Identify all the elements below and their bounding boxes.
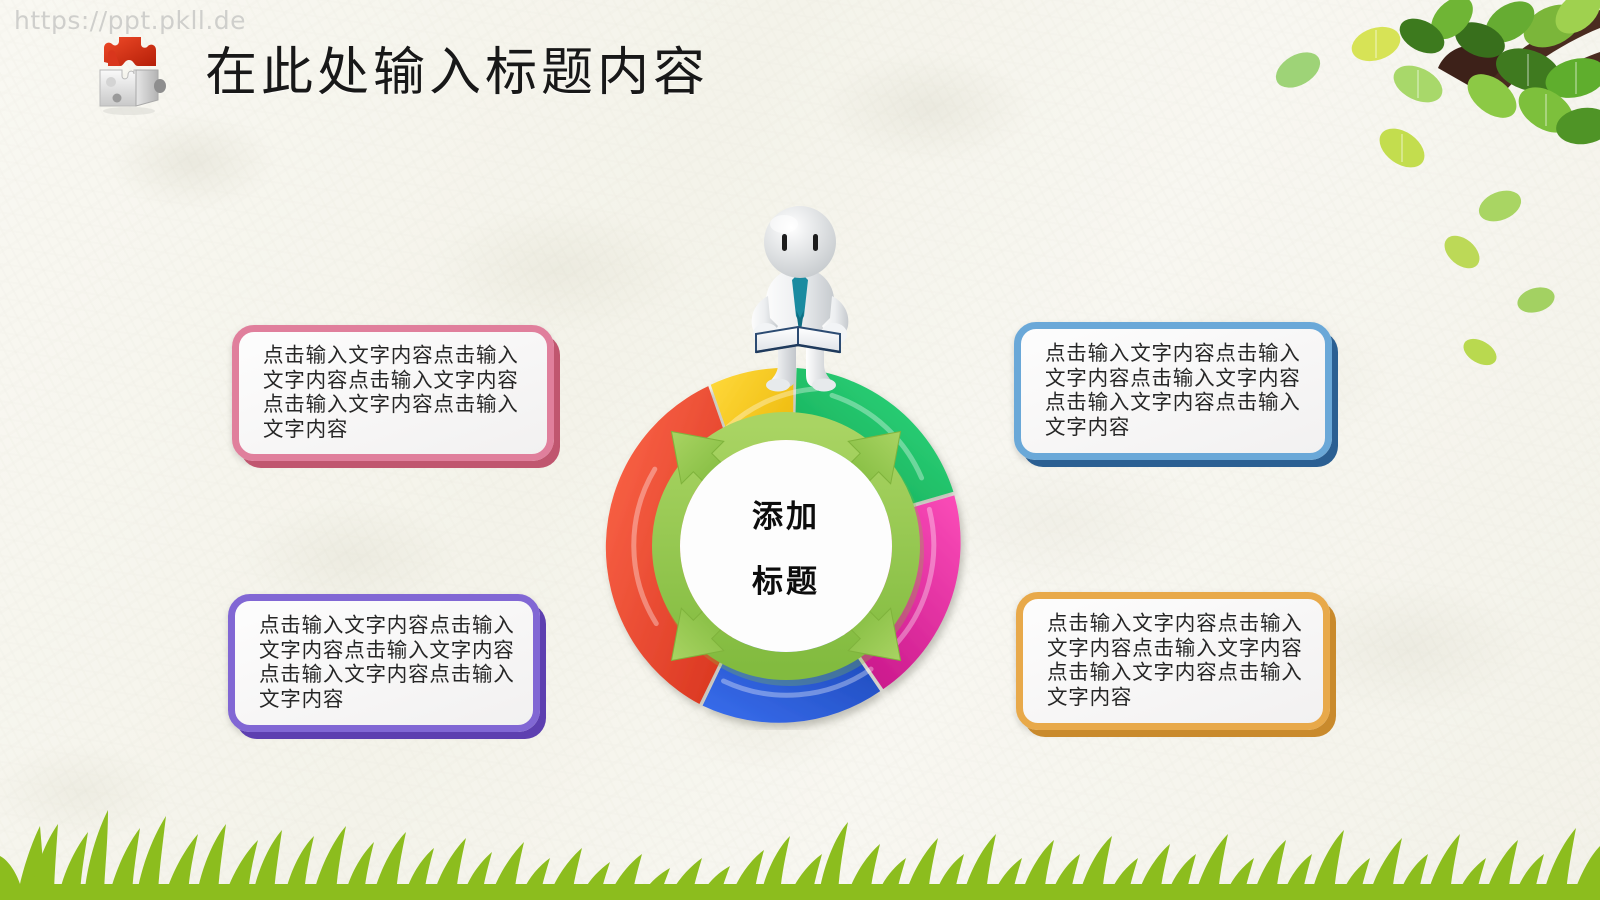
page-title: 在此处输入标题内容 xyxy=(205,40,709,108)
grass-silhouette-icon xyxy=(0,780,1600,900)
presentation-slide: https://ppt.pkll.de xyxy=(0,0,1600,900)
content-box-text: 点击输入文字内容点击输入文字内容点击输入文字内容点击输入文字内容点击输入文字内容 xyxy=(1021,336,1325,446)
content-box-top-right[interactable]: 点击输入文字内容点击输入文字内容点击输入文字内容点击输入文字内容点击输入文字内容 xyxy=(1014,322,1332,460)
center-disc xyxy=(680,440,892,652)
content-box-top-left[interactable]: 点击输入文字内容点击输入文字内容点击输入文字内容点击输入文字内容点击输入文字内容 xyxy=(232,325,554,461)
content-box-bottom-right[interactable]: 点击输入文字内容点击输入文字内容点击输入文字内容点击输入文字内容点击输入文字内容 xyxy=(1016,592,1330,730)
puzzle-piece-icon xyxy=(86,36,172,116)
businessman-reading-book-icon xyxy=(712,206,888,396)
content-box-bottom-left[interactable]: 点击输入文字内容点击输入文字内容点击输入文字内容点击输入文字内容点击输入文字内容 xyxy=(228,594,540,732)
content-box-text: 点击输入文字内容点击输入文字内容点击输入文字内容点击输入文字内容点击输入文字内容 xyxy=(1023,606,1323,716)
content-box-text: 点击输入文字内容点击输入文字内容点击输入文字内容点击输入文字内容点击输入文字内容 xyxy=(239,338,547,448)
cycle-diagram: 添加 标题 xyxy=(602,362,970,730)
watermark-url: https://ppt.pkll.de xyxy=(14,6,246,35)
cycle-wheel-graphic xyxy=(602,362,970,730)
content-box-text: 点击输入文字内容点击输入文字内容点击输入文字内容点击输入文字内容点击输入文字内容 xyxy=(235,608,533,718)
